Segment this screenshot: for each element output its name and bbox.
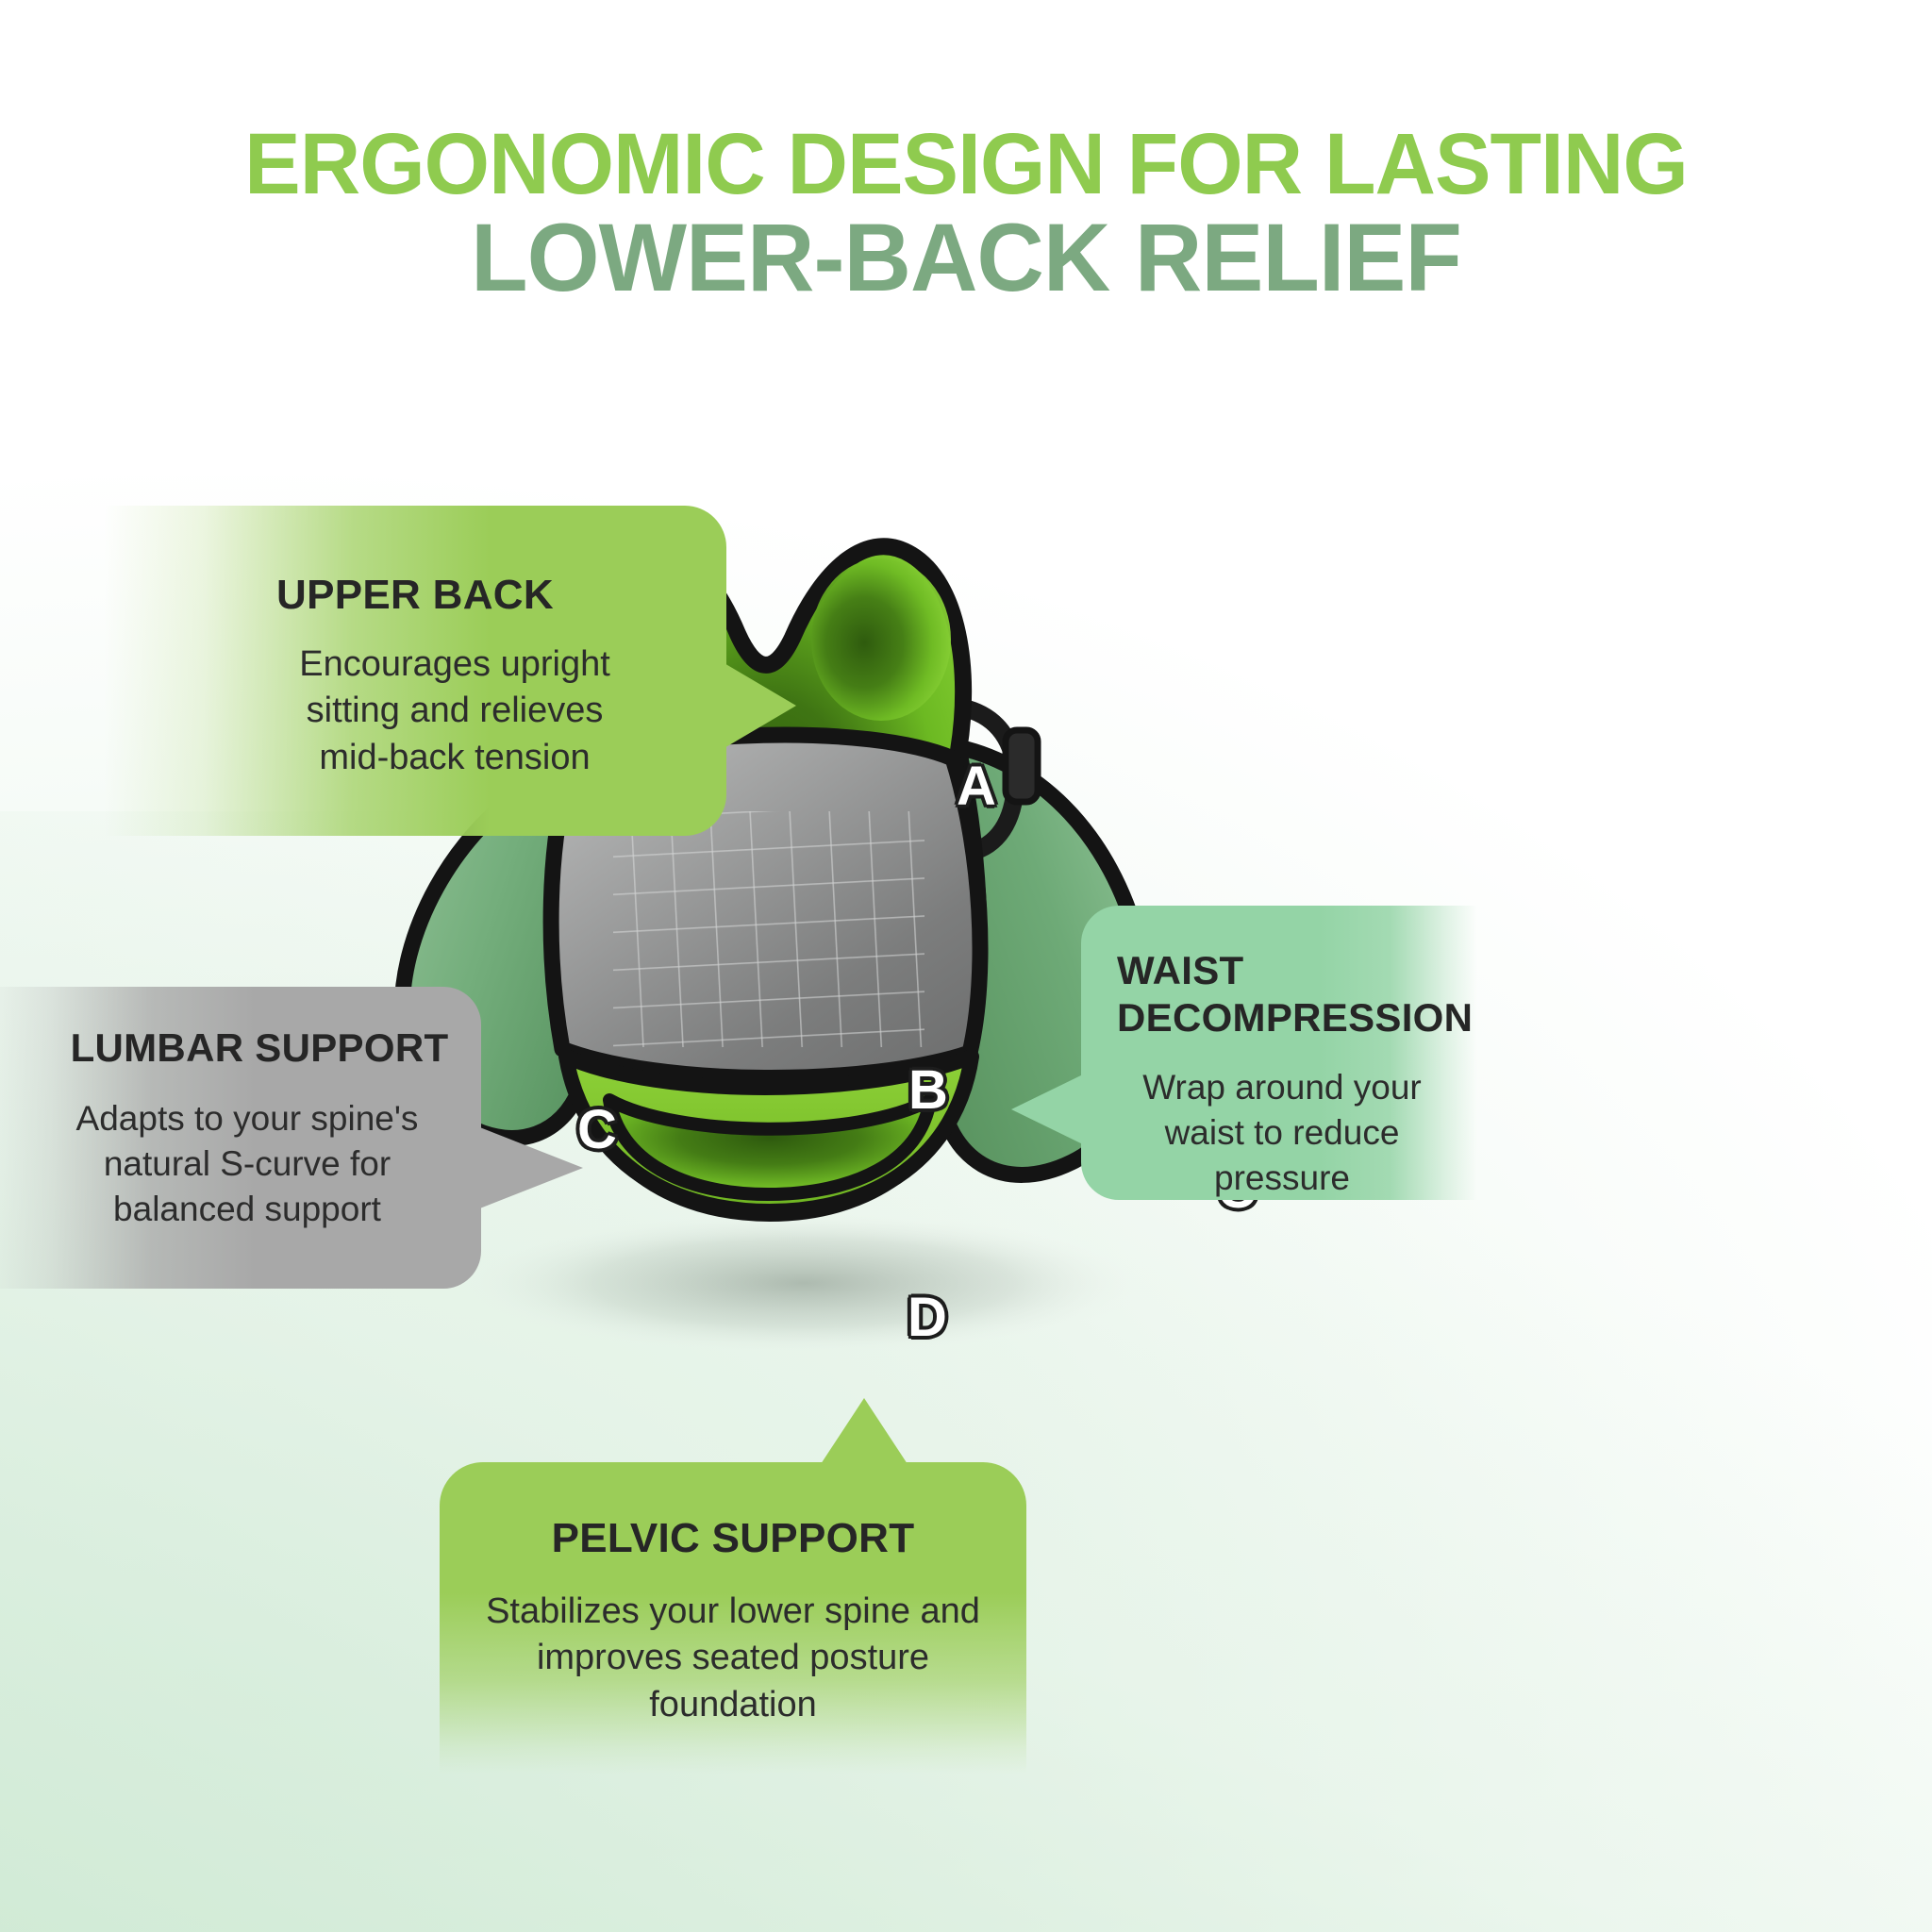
- callout-pelvic-support-arrow: [821, 1398, 908, 1464]
- callout-waist-decompression: WAIST DECOMPRESSION Wrap around your wai…: [1081, 906, 1477, 1200]
- callout-lumbar-support-body: Adapts to your spine's natural S-curve f…: [0, 1096, 481, 1232]
- callout-pelvic-support: PELVIC SUPPORT Stabilizes your lower spi…: [440, 1462, 1026, 1774]
- callout-upper-back: UPPER BACK Encourages upright sitting an…: [104, 506, 726, 836]
- callout-pelvic-support-body: Stabilizes your lower spine and improves…: [440, 1589, 1026, 1728]
- callout-upper-back-title: UPPER BACK: [104, 572, 726, 619]
- callout-upper-back-arrow: [723, 662, 796, 749]
- title-line-2: LOWER-BACK RELIEF: [29, 208, 1904, 308]
- callout-upper-back-body: Encourages upright sitting and relieves …: [104, 641, 726, 781]
- page-title: ERGONOMIC DESIGN FOR LASTING LOWER-BACK …: [0, 121, 1932, 308]
- zone-a-right-lobe: [811, 558, 951, 721]
- callout-waist-decompression-body: Wrap around your waist to reduce pressur…: [1081, 1065, 1477, 1201]
- title-line-1: ERGONOMIC DESIGN FOR LASTING: [29, 121, 1904, 208]
- callout-waist-decompression-title: WAIST DECOMPRESSION: [1081, 947, 1477, 1041]
- callout-lumbar-support-title: LUMBAR SUPPORT: [0, 1024, 481, 1072]
- callout-lumbar-support: LUMBAR SUPPORT Adapts to your spine's na…: [0, 987, 481, 1289]
- callout-waist-decompression-arrow: [1011, 1074, 1085, 1145]
- strap-buckle: [1006, 730, 1038, 802]
- cushion-shadow: [453, 1209, 1155, 1357]
- callout-pelvic-support-title: PELVIC SUPPORT: [440, 1515, 1026, 1562]
- callout-lumbar-support-arrow: [477, 1126, 583, 1209]
